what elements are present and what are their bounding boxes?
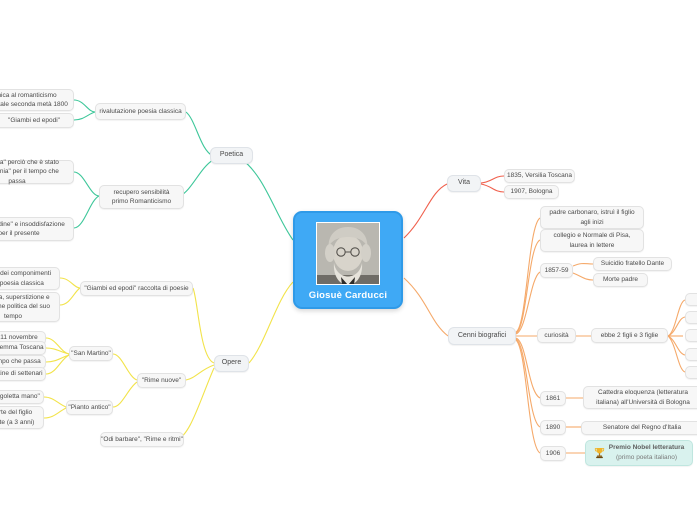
node-anno-1861[interactable]: 1861 [540,391,566,406]
node-figlio-1[interactable]: F [685,293,697,306]
central-node-title: Giosuè Carducci [309,290,388,301]
portrait-svg [317,223,379,285]
carducci-portrait-image [316,222,380,285]
node-rivalutazione-poesia-classica[interactable]: rivalutazione poesia classica [95,103,186,120]
node-label: Senatore del Regno d'Italia [603,423,681,432]
branch-cenni-label: Cenni biografici [458,331,506,341]
node-pianto-antico-verso[interactable]: "pargoletta mano" [0,390,44,404]
mindmap-canvas: Giosuè Carducci Poetica rivalutazione po… [0,0,697,520]
branch-poetica-label: Poetica [220,150,243,160]
node-figlio-3[interactable]: B [685,329,697,342]
node-label: padre carbonaro, istruì il figlio agli i… [546,208,638,227]
node-temi-polemica[interactable]: polemica, superstizione e situazione pol… [0,292,60,322]
node-label: collegio e Normale di Pisa, laurea in le… [546,231,638,250]
nobel-title: Premio Nobel letteratura [609,443,685,453]
node-label: polemica al romanticismo sentimentale se… [0,91,68,110]
node-morte[interactable]: 1907, Bologna [504,185,559,199]
node-san-martino-luogo[interactable]: Maremma Toscana [0,341,46,355]
node-san-martino[interactable]: "San Martino" [69,346,113,361]
node-recupero-primo-romanticismo[interactable]: recupero sensibilità primo Romanticismo [99,185,184,209]
node-label: recupero sensibilità primo Romanticismo [105,188,178,207]
node-label: "nostalgia" perciò che è stato "malincon… [0,158,68,186]
node-anni-1857-59[interactable]: 1857-59 [540,263,573,278]
branch-vita[interactable]: Vita [447,175,481,192]
node-label: "inquietudine" e insoddisfazione per il … [0,220,68,239]
node-morte-padre[interactable]: Morte padre [593,273,648,287]
node-nostalgia-malinconia[interactable]: "nostalgia" perciò che è stato "malincon… [0,160,74,184]
node-label: "Giambi ed epodi" [8,116,60,125]
node-label: rivalutazione poesia classica [99,107,181,116]
branch-opere-label: Opere [222,358,241,368]
branch-poetica[interactable]: Poetica [210,147,253,164]
node-label: quartine di settenari [0,369,43,378]
node-label: curiosità [544,331,568,340]
node-pianto-antico-tema[interactable]: morte del figlio Dante (a 3 anni) [0,406,44,429]
node-anno-1906[interactable]: 1906 [540,446,566,461]
node-label: Morte padre [603,275,638,284]
node-figlio-2[interactable]: D [685,311,697,324]
node-label: "Odi barbare", "Rime e ritmi" [101,435,183,444]
node-label: 1890 [546,423,560,432]
nobel-text: Premio Nobel letteratura (primo poeta it… [609,443,685,463]
node-label: 1906 [546,449,560,458]
node-label: Suicidio fratello Dante [601,259,664,268]
branch-vita-label: Vita [458,178,470,188]
node-odi-barbare-rime-e-ritmi[interactable]: "Odi barbare", "Rime e ritmi" [100,432,184,447]
node-figlio-5[interactable]: L [685,366,697,379]
node-premio-nobel[interactable]: Premio Nobel letteratura (primo poeta it… [585,440,693,466]
node-label: 1861 [546,394,560,403]
node-label: polemica, superstizione e situazione pol… [0,293,54,321]
node-label: "San Martino" [71,349,111,358]
nobel-subtitle: (primo poeta italiano) [616,453,677,463]
node-giambi-ed-epodi[interactable]: "Giambi ed epodi" [0,113,74,128]
node-anno-1890[interactable]: 1890 [540,420,566,435]
node-nascita[interactable]: 1835, Versilia Toscana [504,169,575,183]
central-node[interactable]: Giosuè Carducci [293,211,403,309]
node-label: 1857-59 [545,266,569,275]
node-inquietudine-presente[interactable]: "inquietudine" e insoddisfazione per il … [0,217,74,241]
node-san-martino-metrica[interactable]: quartine di settenari [0,367,46,381]
node-label: morte del figlio Dante (a 3 anni) [0,408,38,427]
node-label: Cattedra eloquenza (letteratura italiana… [589,388,697,407]
node-metrica-componimenti[interactable]: metrica dei componimenti della poesia cl… [0,267,60,290]
node-rime-nuove[interactable]: "Rime nuove" [137,373,186,388]
node-figli[interactable]: ebbe 2 figli e 3 figlie [591,328,668,343]
node-giambi-raccolta[interactable]: "Giambi ed epodi" raccolta di poesie [80,281,193,296]
node-label: 1907, Bologna [511,187,553,196]
node-senatore-regno-italia[interactable]: Senatore del Regno d'Italia [581,421,697,435]
node-polemica-romanticismo[interactable]: polemica al romanticismo sentimentale se… [0,89,74,111]
node-cattedra-bologna[interactable]: Cattedra eloquenza (letteratura italiana… [583,386,697,409]
trophy-icon [594,447,605,459]
node-pianto-antico[interactable]: "Pianto antico" [66,400,113,415]
node-label: "Giambi ed epodi" raccolta di poesie [84,284,188,293]
node-figlio-4[interactable]: L [685,348,697,361]
node-label: metrica dei componimenti della poesia cl… [0,269,54,288]
node-label: 1835, Versilia Toscana [507,171,572,180]
node-label: "pargoletta mano" [0,392,40,401]
node-padre-carbonaro[interactable]: padre carbonaro, istruì il figlio agli i… [540,206,644,229]
node-suicidio-fratello-dante[interactable]: Suicidio fratello Dante [593,257,672,271]
node-label: ebbe 2 figli e 3 figlie [601,331,658,340]
node-collegio-normale-pisa[interactable]: collegio e Normale di Pisa, laurea in le… [540,229,644,252]
node-label: "Pianto antico" [68,403,110,412]
node-label: Maremma Toscana [0,343,44,352]
node-label: tempo che passa [0,357,41,366]
branch-cenni-biografici[interactable]: Cenni biografici [448,327,516,345]
node-label: "Rime nuove" [142,376,181,385]
branch-opere[interactable]: Opere [214,355,249,372]
node-curiosita[interactable]: curiosità [537,328,576,343]
